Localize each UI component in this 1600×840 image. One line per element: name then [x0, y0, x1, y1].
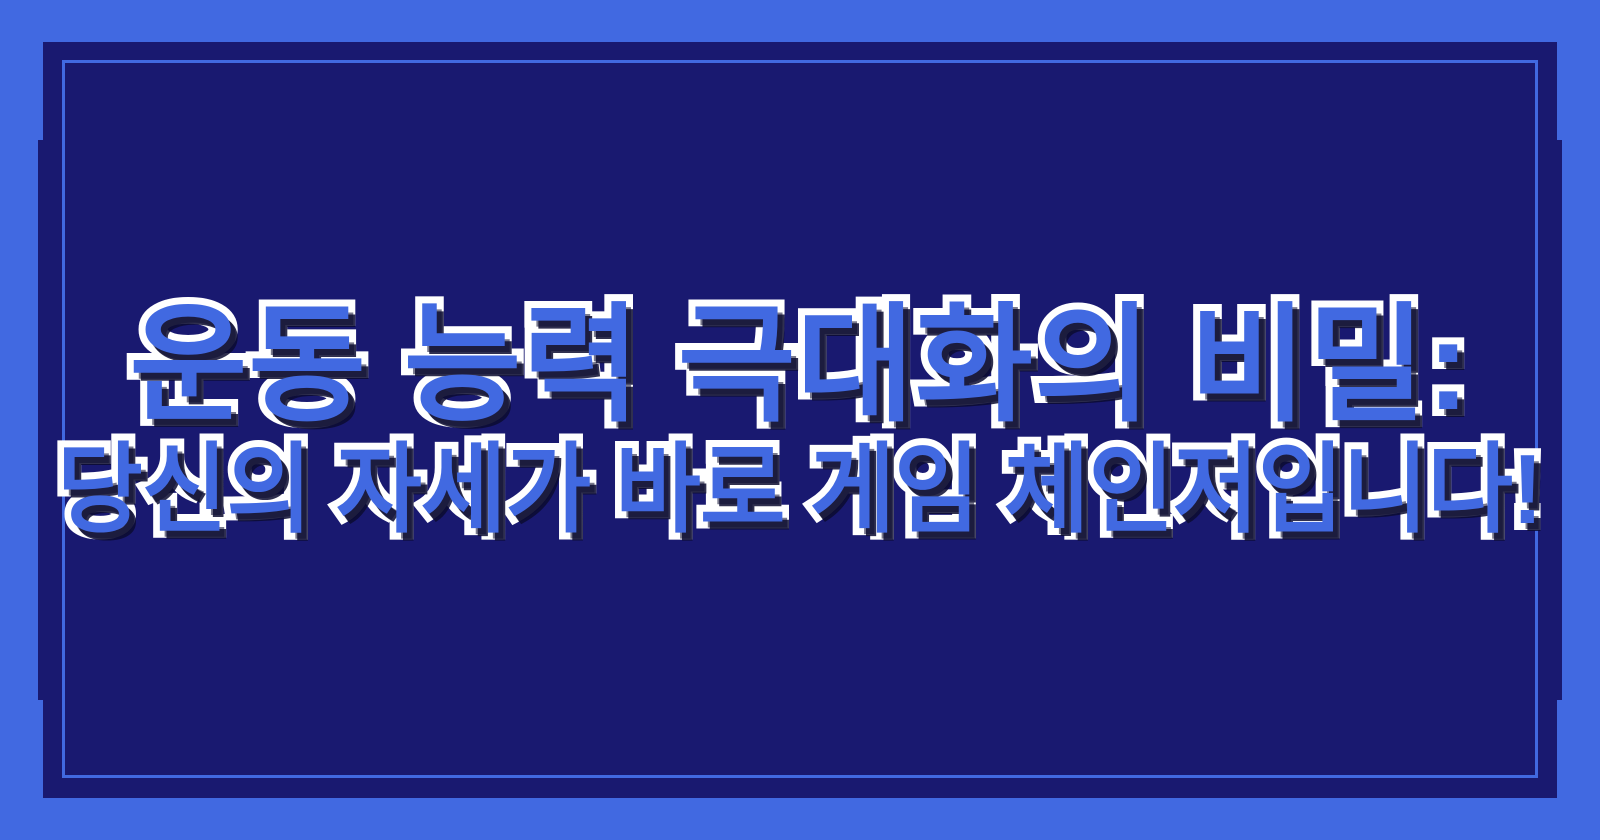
poster-canvas: 운동 능력 극대화의 비밀: 당신의 자세가 바로 게임 체인저입니다!: [0, 0, 1600, 840]
title-line-primary: 운동 능력 극대화의 비밀:: [130, 302, 1471, 430]
title-line-secondary: 당신의 자세가 바로 게임 체인저입니다!: [58, 440, 1543, 538]
title-block: 운동 능력 극대화의 비밀: 당신의 자세가 바로 게임 체인저입니다!: [0, 0, 1600, 840]
